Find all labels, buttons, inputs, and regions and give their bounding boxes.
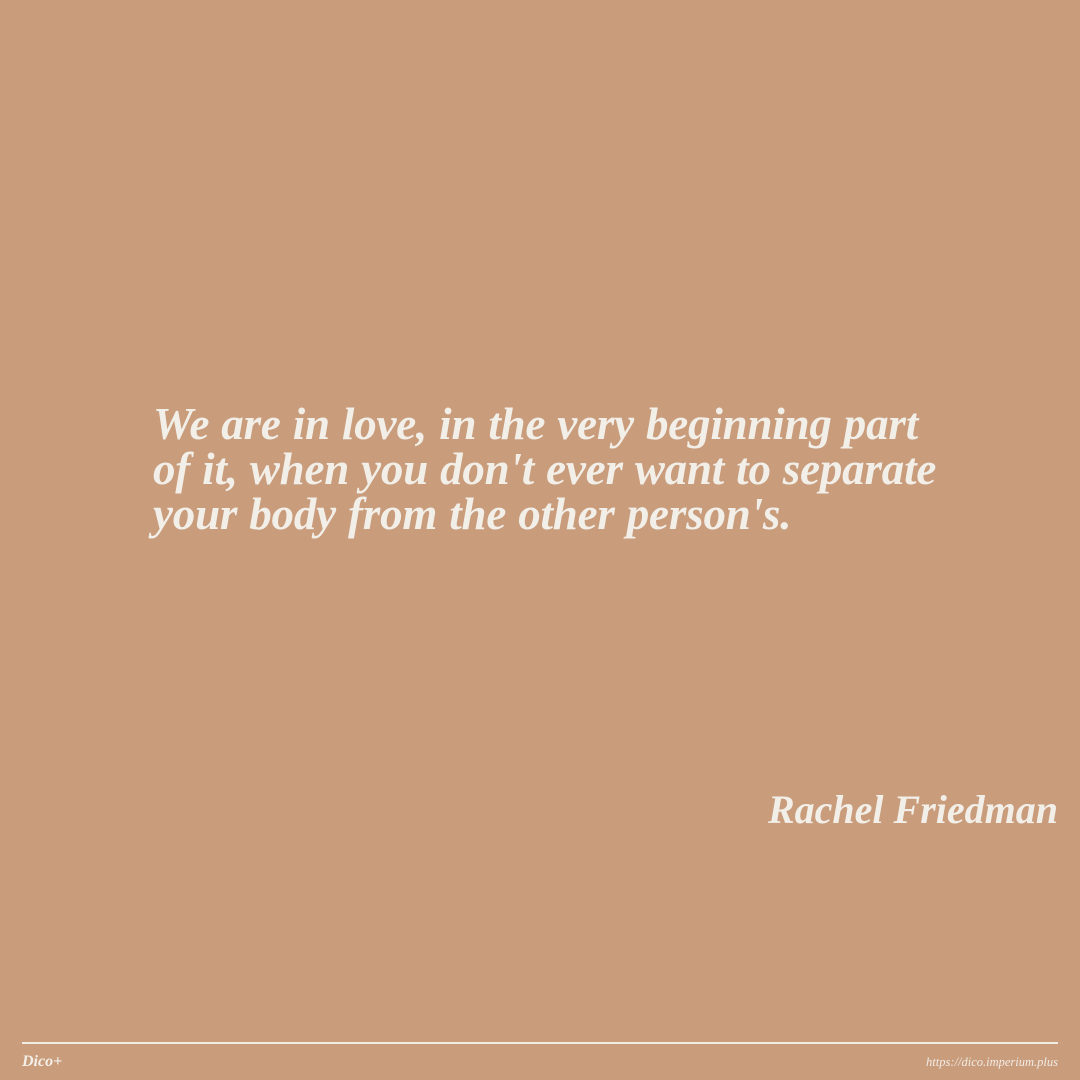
footer-row: Dico+ https://dico.imperium.plus — [22, 1044, 1058, 1080]
quote-text: We are in love, in the very beginning pa… — [153, 402, 953, 537]
footer-brand-logo: Dico+ — [22, 1054, 62, 1070]
quote-author: Rachel Friedman — [768, 786, 1058, 834]
footer-url[interactable]: https://dico.imperium.plus — [926, 1056, 1058, 1069]
footer: Dico+ https://dico.imperium.plus — [22, 1042, 1058, 1080]
quote-card: We are in love, in the very beginning pa… — [0, 0, 1080, 1080]
quote-body: We are in love, in the very beginning pa… — [153, 402, 953, 537]
